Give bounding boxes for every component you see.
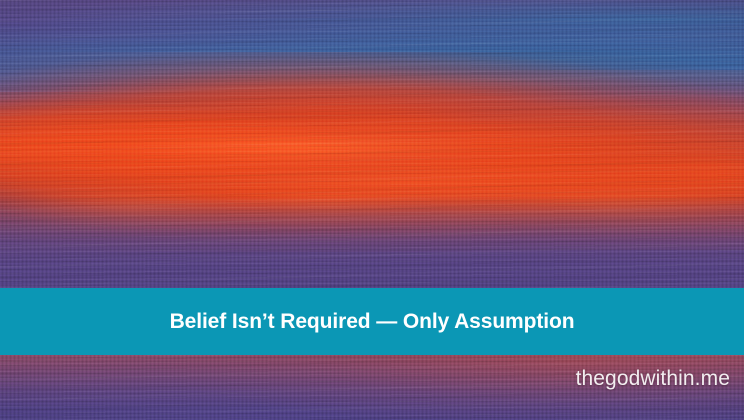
artwork-orange-highlight-lower-layer bbox=[0, 160, 744, 212]
artwork-blue-streak-upper-layer bbox=[0, 0, 744, 46]
artwork-canvas-weave-texture bbox=[0, 0, 744, 420]
post-title: Belief Isn’t Required — Only Assumption bbox=[170, 310, 575, 333]
artwork-lower-violet-layer bbox=[0, 196, 744, 294]
artwork-brush-stroke-texture-coarse bbox=[0, 0, 744, 420]
featured-image-card: Belief Isn’t Required — Only Assumption … bbox=[0, 0, 744, 420]
site-url-watermark: thegodwithin.me bbox=[576, 366, 730, 391]
artwork-orange-cloud-right-layer bbox=[0, 70, 744, 250]
artwork-cloud-underside-layer bbox=[0, 192, 744, 256]
artwork-brush-stroke-texture bbox=[0, 0, 744, 420]
artwork-orange-highlight-layer bbox=[0, 118, 744, 176]
artwork-vignette bbox=[0, 0, 744, 420]
artwork-orange-cloud-layer bbox=[0, 52, 744, 252]
artwork-blue-streak-layer bbox=[0, 18, 744, 96]
artwork-sky-base-layer bbox=[0, 0, 744, 420]
title-banner: Belief Isn’t Required — Only Assumption bbox=[0, 288, 744, 355]
artwork-orange-cloud-left-layer bbox=[0, 92, 744, 210]
